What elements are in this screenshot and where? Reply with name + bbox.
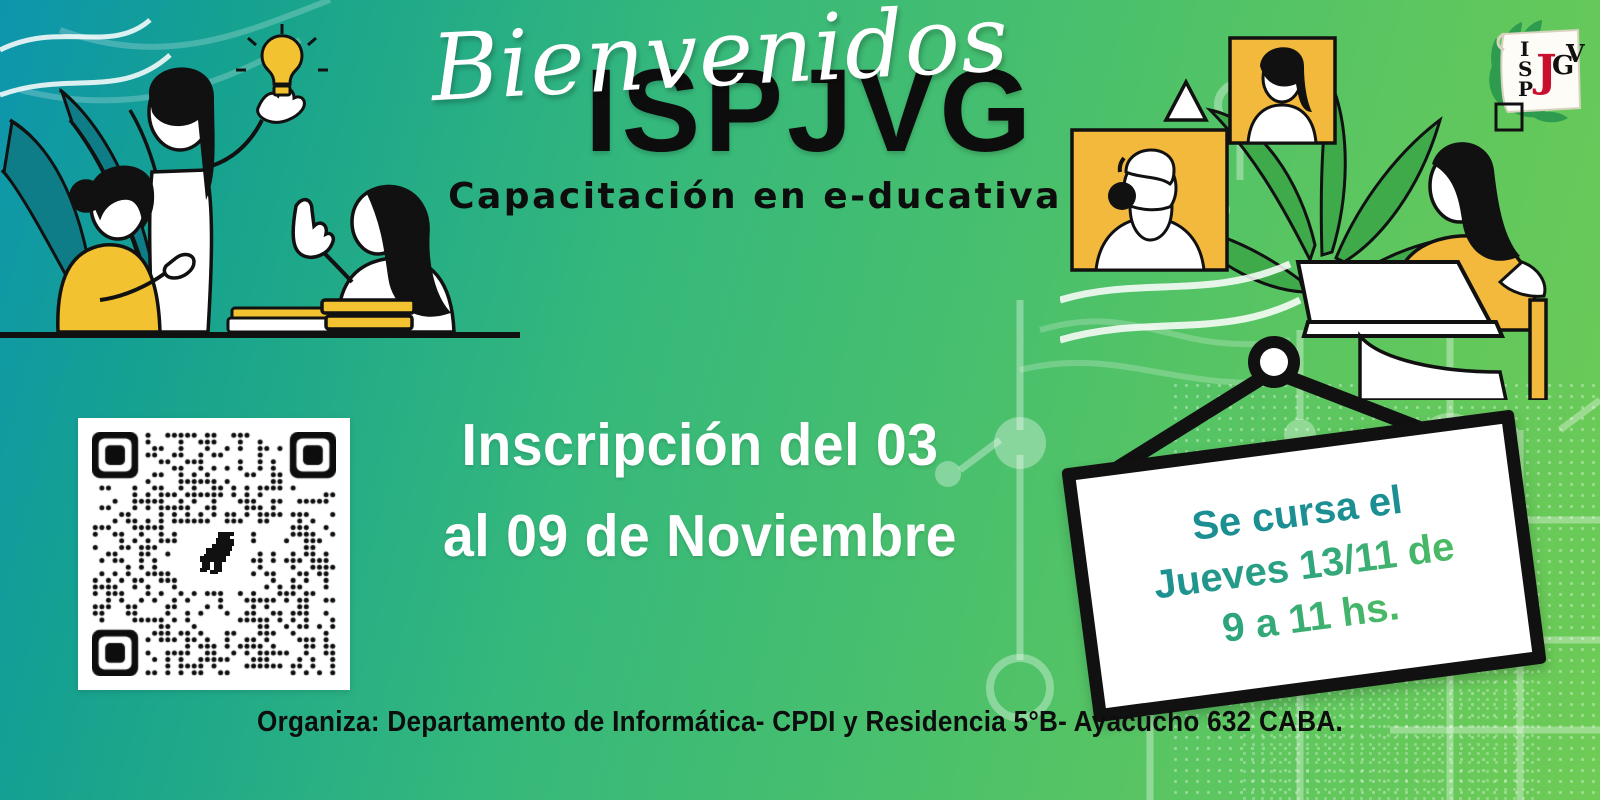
svg-text:J: J xyxy=(1532,46,1557,97)
ispjvg-logo: I S P G V J xyxy=(1474,12,1594,132)
headline-block: Bienvenidos ISPJVG Capacitación en e-duc… xyxy=(360,10,1120,217)
triangle-decoration xyxy=(1166,82,1206,120)
svg-text:P: P xyxy=(1518,77,1533,101)
promo-banner: I S P G V J Bienvenidos ISPJVG Capacitac… xyxy=(0,0,1600,800)
enrollment-dates: Inscripción del 03 al 09 de Noviembre xyxy=(418,400,982,583)
video-tile-student xyxy=(1230,38,1335,143)
dinosaur-icon xyxy=(188,528,240,580)
subtitle-text: Capacitación en e-ducativa xyxy=(390,176,1120,217)
enrollment-line-2: al 09 de Noviembre xyxy=(418,491,982,582)
svg-text:V: V xyxy=(1565,39,1585,68)
qr-code-card[interactable] xyxy=(78,418,350,690)
organizer-footer: Organiza: Departamento de Informática- C… xyxy=(80,706,1520,739)
hanging-sign: Se cursa el Jueves 13/11 de 9 a 11 hs. xyxy=(1040,330,1560,720)
enrollment-line-1: Inscripción del 03 xyxy=(418,400,982,491)
lightbulb-icon xyxy=(236,24,328,95)
